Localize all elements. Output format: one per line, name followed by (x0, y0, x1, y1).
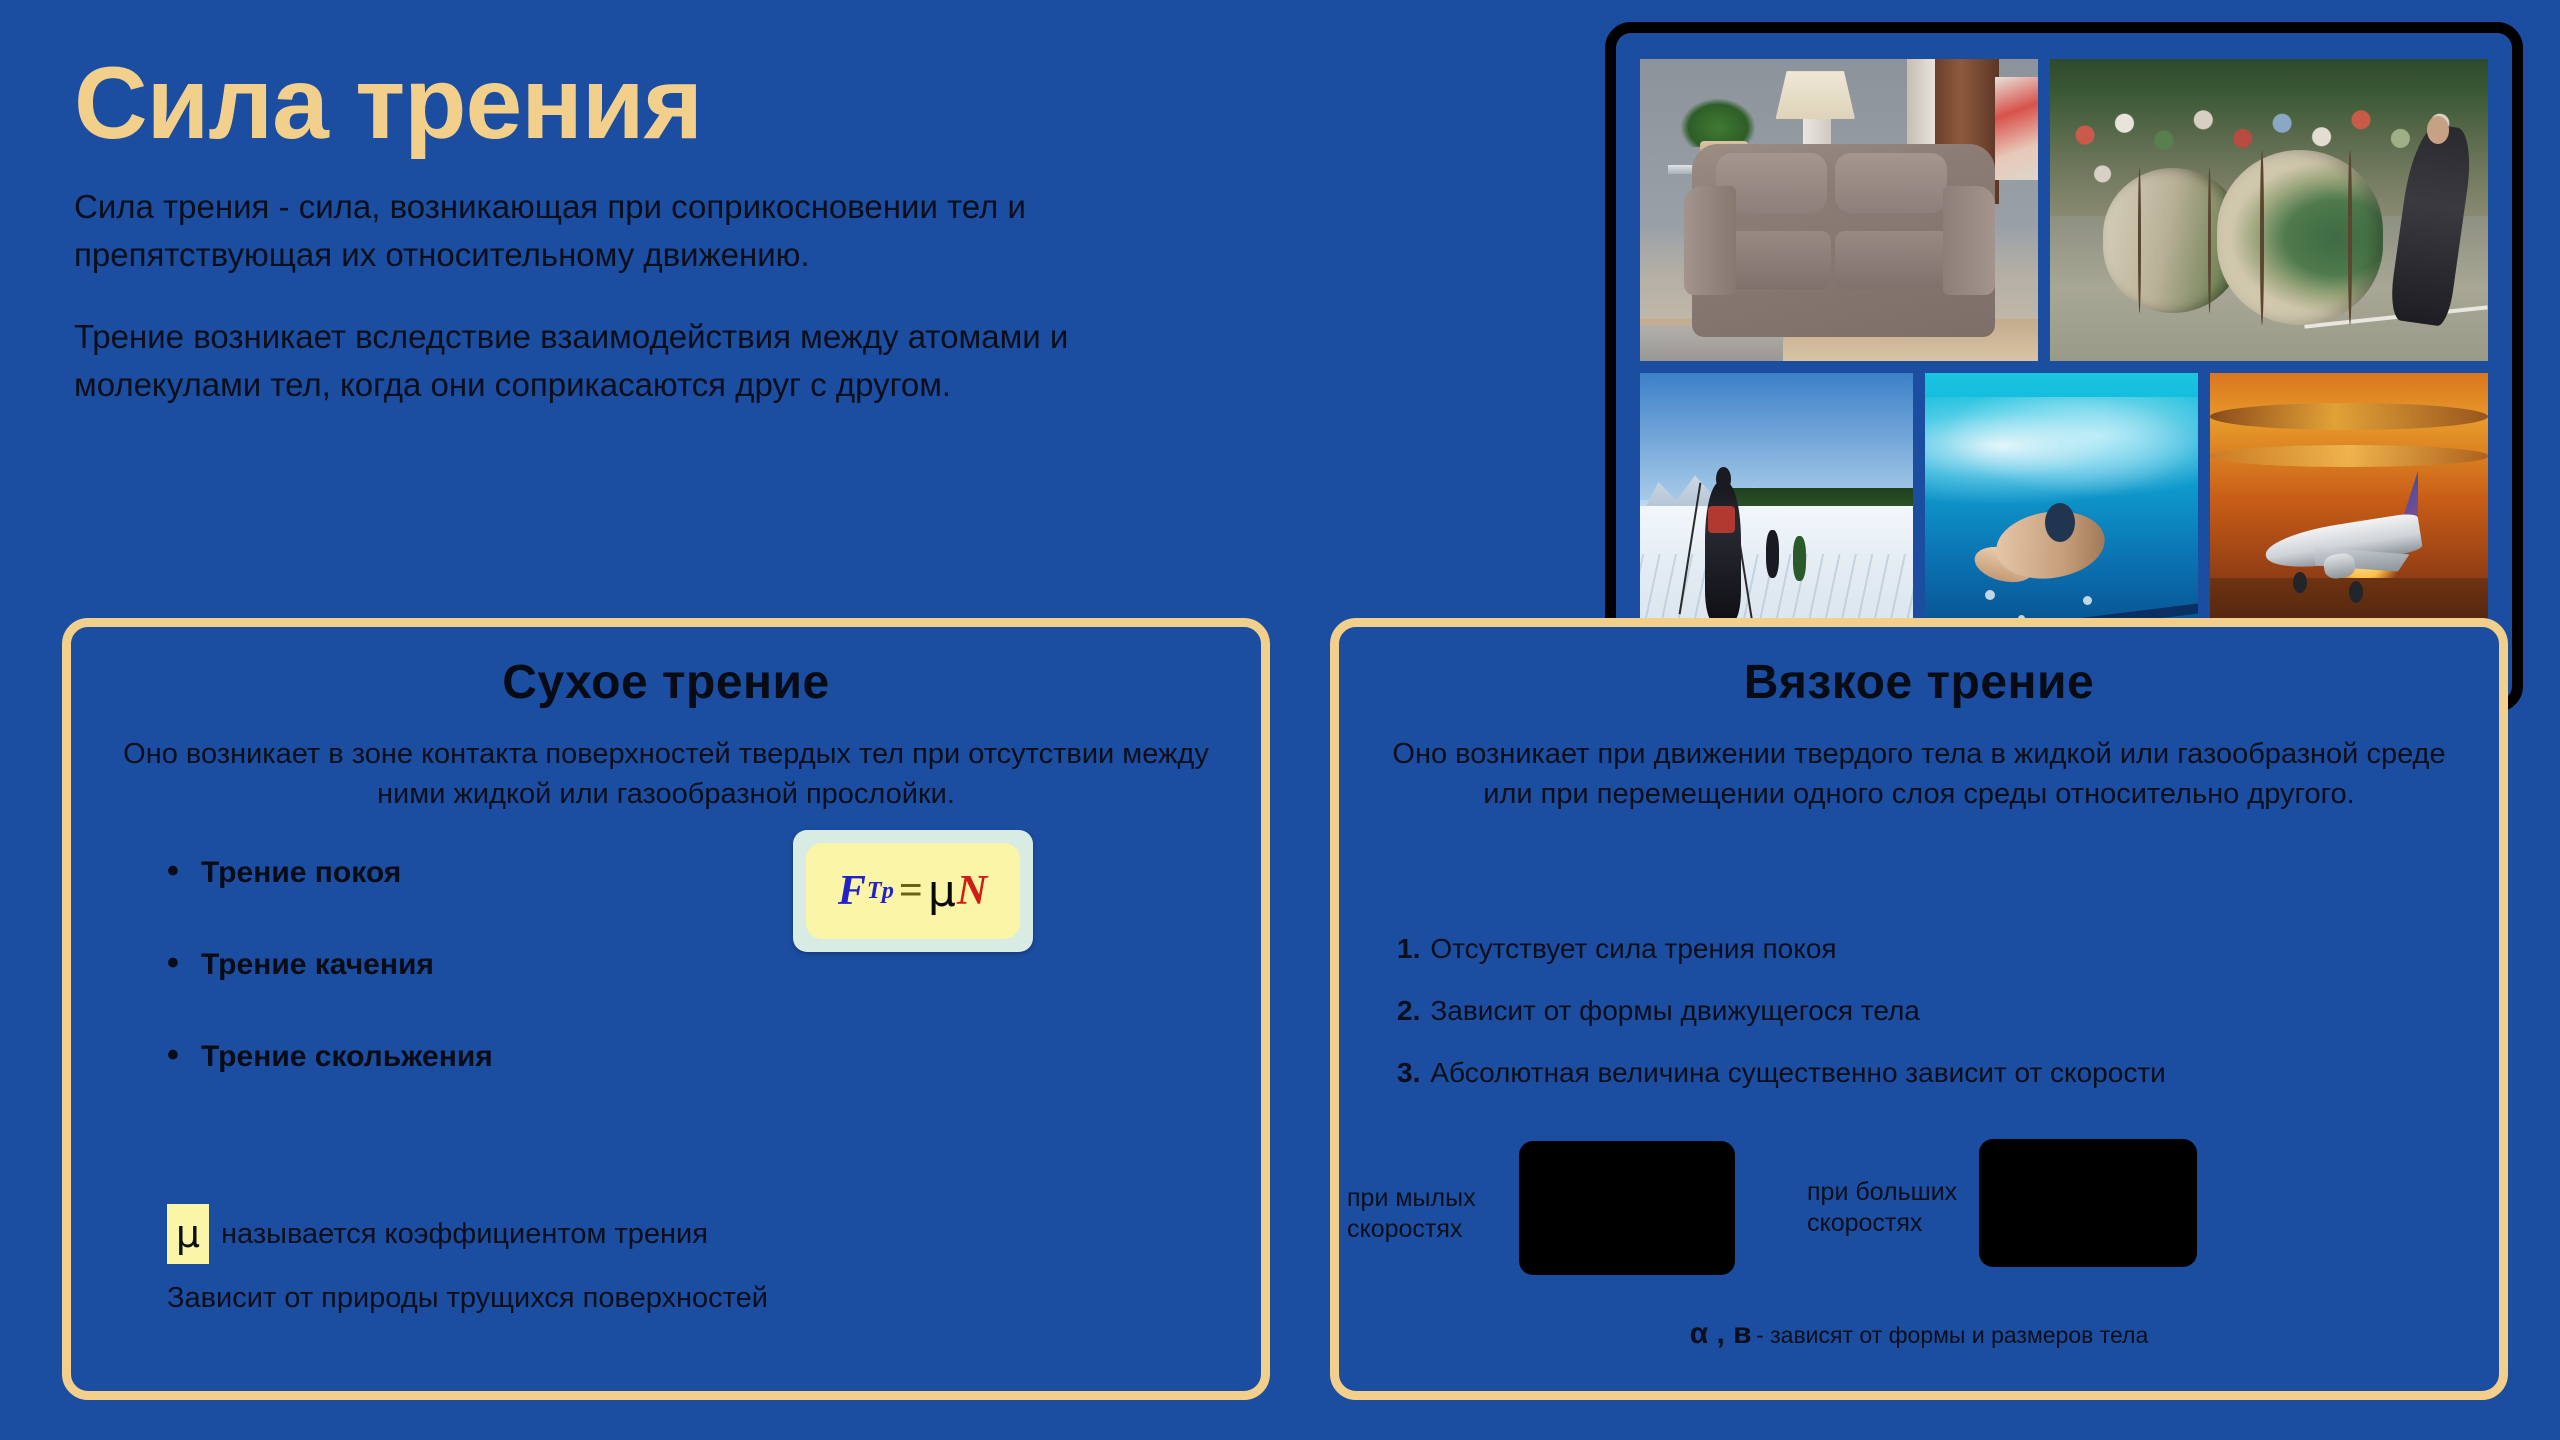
alpha-beta-symbols: α , в (1690, 1317, 1752, 1350)
formula-f-symbol: F (838, 867, 867, 915)
formula-mu: μ (928, 866, 957, 917)
alpha-beta-description: - зависят от формы и размеров тела (1756, 1322, 2148, 1348)
viscous-card-title: Вязкое трение (1339, 655, 2499, 710)
list-item-text: Зависит от формы движущегося тела (1430, 995, 1920, 1027)
list-item-number: 3. (1397, 1057, 1420, 1089)
intro-paragraph-2: Трение возникает вследствие взаимодейств… (74, 313, 1254, 409)
list-item-text: Абсолютная величина существенно зависит … (1430, 1057, 2165, 1089)
sofa-photo (1640, 59, 2038, 361)
list-item: 3. Абсолютная величина существенно завис… (1397, 1057, 2437, 1089)
slide-canvas: Сила трения Сила трения - сила, возникаю… (0, 0, 2560, 1440)
mu-chip: μ (167, 1204, 209, 1264)
small-speed-formula-image (1519, 1141, 1735, 1275)
formula-n-symbol: N (957, 867, 988, 915)
viscous-friction-card: Вязкое трение Оно возникает при движении… (1330, 618, 2508, 1400)
friction-formula-image: FТр=μN (793, 830, 1033, 952)
large-speed-label: при больших скоростях (1807, 1177, 1997, 1240)
photo-collage (1605, 22, 2523, 712)
list-item: Трение покоя (167, 856, 687, 890)
list-item-number: 2. (1397, 995, 1420, 1027)
dry-card-description: Оно возникает в зоне контакта поверхност… (115, 734, 1217, 814)
collage-grid (1640, 59, 2488, 675)
mu-definition-line: μ называется коэффициентом трения (167, 1204, 708, 1264)
list-item-text: Отсутствует сила трения покоя (1430, 933, 1836, 965)
viscous-card-description: Оно возникает при движении твердого тела… (1383, 734, 2455, 814)
speed-formula-row: при мылых скоростях при больших скоростя… (1339, 1147, 2499, 1297)
list-item-number: 1. (1397, 933, 1420, 965)
mu-definition-text: называется коэффициентом трения (221, 1218, 708, 1251)
dry-friction-card: Сухое трение Оно возникает в зоне контак… (62, 618, 1270, 1400)
dry-friction-bullet-list: Трение покоя Трение качения Трение сколь… (167, 856, 687, 1132)
intro-block: Сила трения Сила трения - сила, возникаю… (70, 50, 1290, 442)
friction-formula: FТр=μN (806, 843, 1020, 939)
large-speed-formula-image (1979, 1139, 2197, 1267)
formula-equals: = (899, 867, 924, 915)
alpha-beta-note: α , в - зависят от формы и размеров тела (1339, 1317, 2499, 1351)
viscous-numbered-list: 1. Отсутствует сила трения покоя 2. Зави… (1397, 933, 2437, 1119)
list-item: Трение скольжения (167, 1040, 687, 1074)
small-speed-label: при мылых скоростях (1329, 1183, 1537, 1246)
dry-card-footer: Зависит от природы трущихся поверхностей (167, 1282, 768, 1315)
list-item: Трение качения (167, 948, 687, 982)
page-title: Сила трения (74, 50, 1290, 157)
formula-f-subscript: Тр (867, 878, 895, 905)
intro-paragraph-1: Сила трения - сила, возникающая при сопр… (74, 183, 1254, 279)
barrel-rolling-photo (2050, 59, 2488, 361)
collage-row-top (1640, 59, 2488, 361)
list-item: 2. Зависит от формы движущегося тела (1397, 995, 2437, 1027)
dry-card-title: Сухое трение (71, 655, 1261, 710)
list-item: 1. Отсутствует сила трения покоя (1397, 933, 2437, 965)
